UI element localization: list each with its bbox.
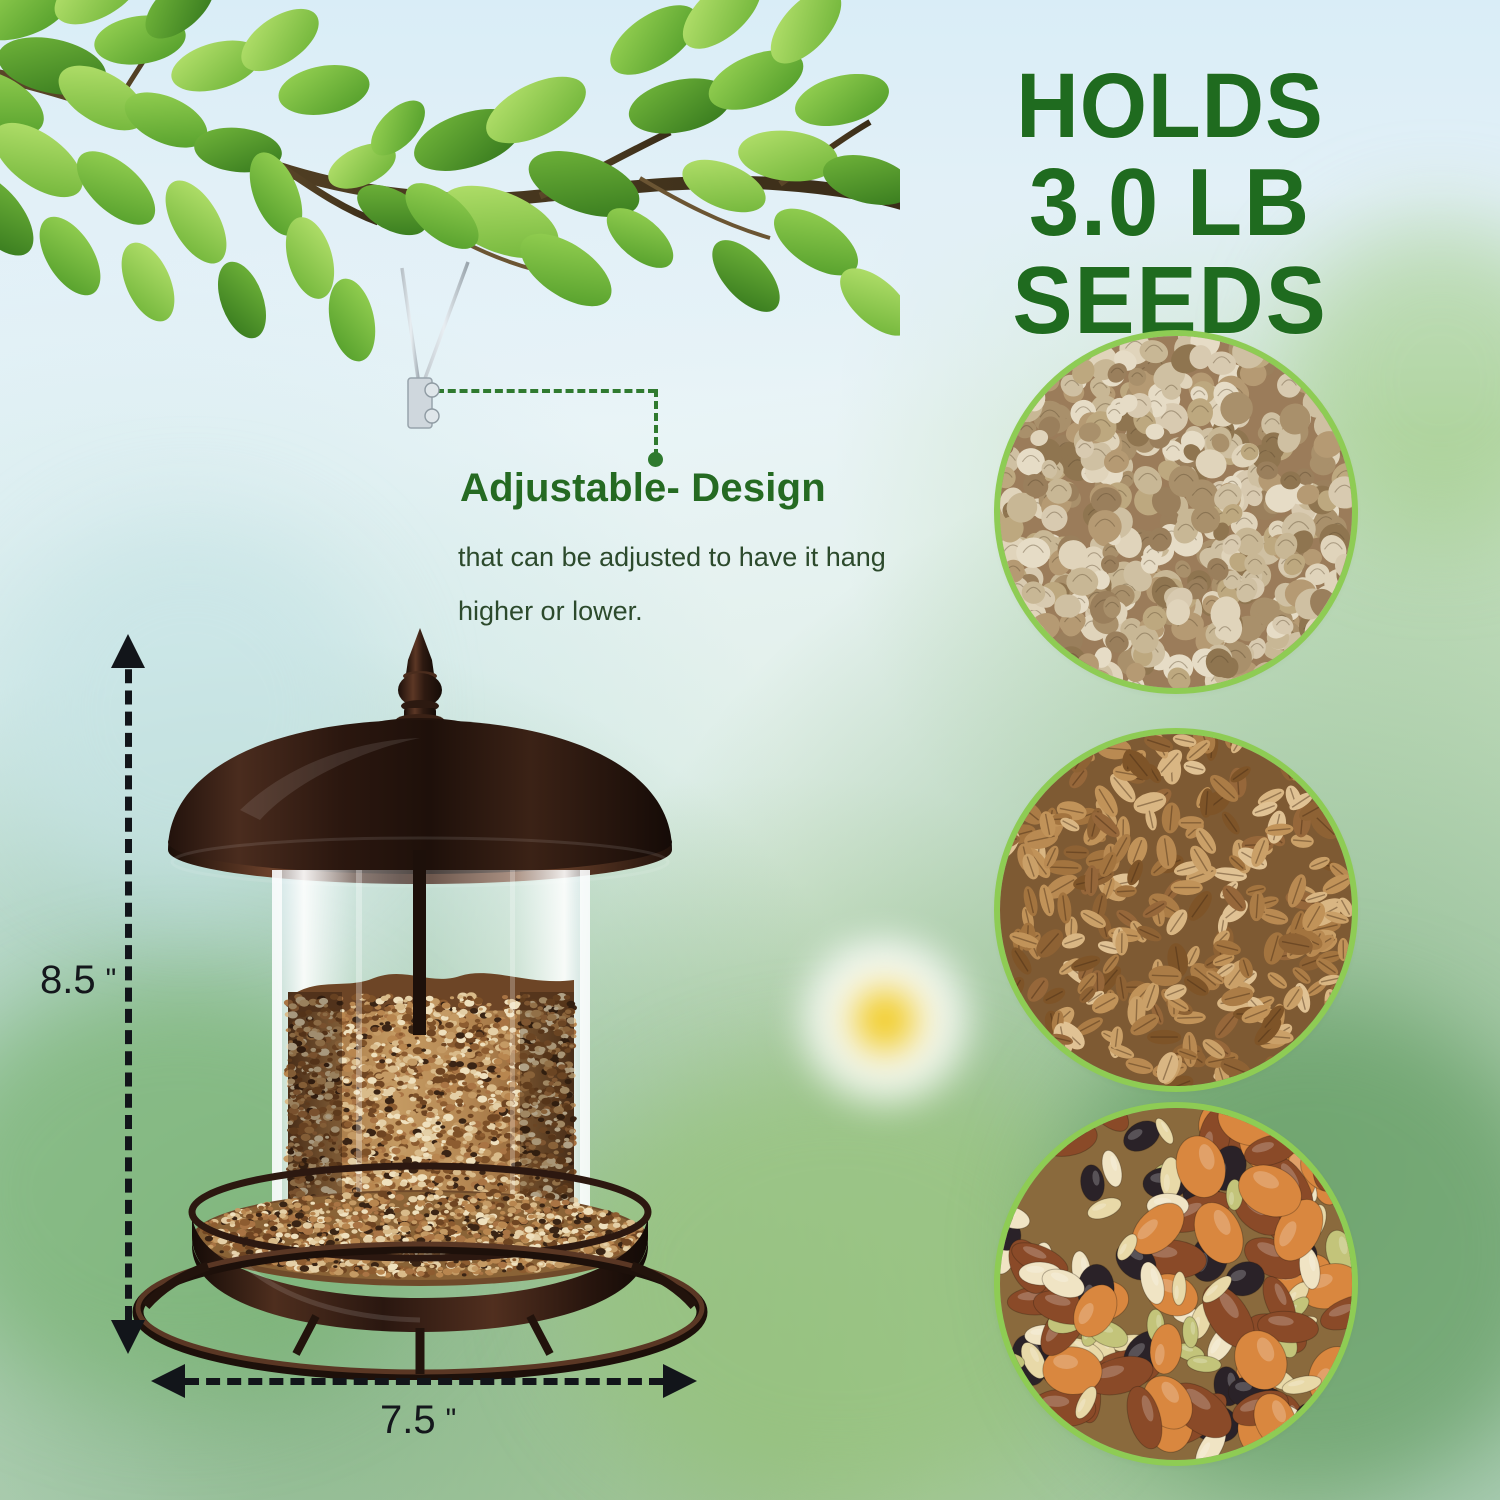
width-arrow-left	[151, 1364, 185, 1398]
width-dimension-line	[185, 1378, 663, 1385]
height-dimension-line	[125, 648, 132, 1320]
width-arrow-right	[663, 1364, 697, 1398]
background-daisy-flower	[770, 930, 1000, 1130]
headline: HOLDS 3.0 LB SEEDS	[860, 60, 1480, 350]
height-unit: "	[106, 963, 117, 996]
mixed-nuts-image	[1000, 1108, 1352, 1460]
seed-circle-coriander	[1000, 336, 1352, 688]
wheat-grains-image	[1000, 734, 1352, 1086]
height-arrow-bottom	[111, 1320, 145, 1354]
headline-line-1: HOLDS	[860, 60, 1480, 154]
bird-feeder-product-image	[120, 250, 740, 1380]
width-dimension-label: 7.5"	[380, 1398, 456, 1443]
height-arrow-top	[111, 634, 145, 668]
coriander-seeds-image	[1000, 336, 1352, 688]
height-dimension-label: 8.5"	[40, 958, 116, 1003]
seed-circle-wheat	[1000, 734, 1352, 1086]
seed-circle-mixed-nuts	[1000, 1108, 1352, 1460]
headline-line-2: 3.0 LB SEEDS	[860, 154, 1480, 350]
infographic-canvas: HOLDS 3.0 LB SEEDS Adjustable- Design th…	[0, 0, 1500, 1500]
height-value: 8.5	[40, 958, 96, 1002]
width-value: 7.5	[380, 1398, 436, 1442]
width-unit: "	[446, 1403, 457, 1436]
